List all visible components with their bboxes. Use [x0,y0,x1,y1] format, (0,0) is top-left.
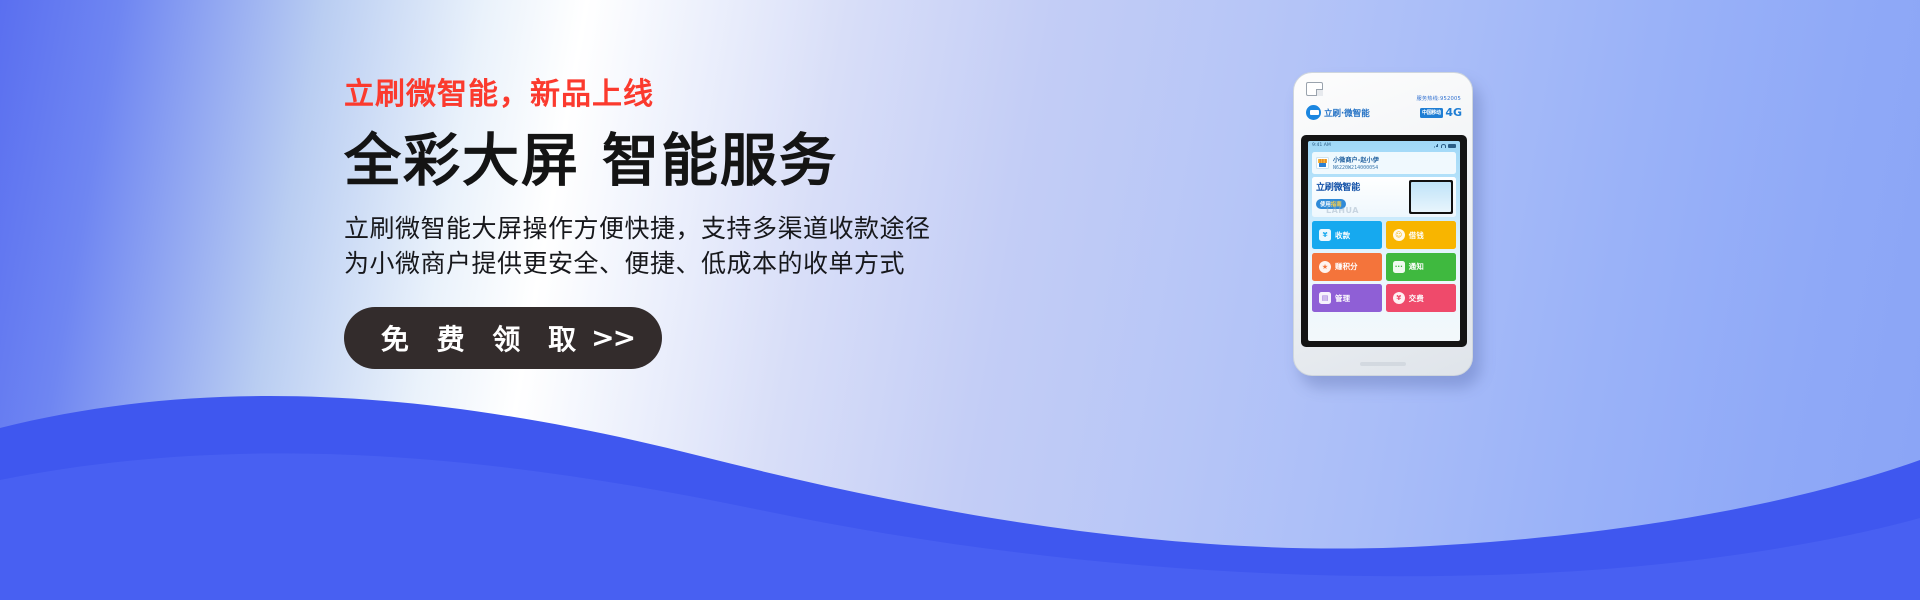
promo-banner: 立刷微智能，新品上线 全彩大屏智能服务 立刷微智能大屏操作方便快捷，支持多渠道收… [0,0,1920,600]
merchant-serial-number: N6220W214000054 [1333,165,1379,171]
status-icons [1434,144,1456,148]
pay-fee-icon: ¥ [1393,292,1405,304]
printer-paper-icon [1306,82,1323,96]
promo-thumbnail [1409,180,1453,214]
app-tile[interactable]: ¥ 交费 [1386,284,1456,312]
app-tile-grid: ¥ 收款 ☺ 借钱 ★ 赚积分 ··· 通知 [1312,221,1456,312]
free-claim-button[interactable]: 免 费 领 取 >> [344,307,662,369]
app-tile-label: 赚积分 [1335,261,1358,272]
status-time: 9:41 AM [1312,143,1331,148]
chevron-right-icon: >> [591,321,634,354]
app-tile[interactable]: ··· 通知 [1386,253,1456,281]
notification-icon: ··· [1393,261,1405,273]
manage-icon: ▤ [1319,292,1331,304]
app-tile-label: 通知 [1409,261,1424,272]
headline-part-left: 全彩大屏 [344,128,580,194]
device-top-panel: 服务热线:952005 立刷·微智能 中国移动 4G [1294,73,1472,135]
signal-icon [1434,144,1439,148]
subtitle-line-2: 为小微商户提供更安全、便捷、低成本的收单方式 [344,246,1024,282]
hotline-text: 服务热线:952005 [1416,95,1461,102]
device-brand-row: 立刷·微智能 中国移动 4G [1306,105,1462,120]
brand-name: 立刷·微智能 [1324,107,1370,119]
eyebrow-text: 立刷微智能，新品上线 [344,78,1024,111]
merchant-card[interactable]: 小微商户-赵小伊 N6220W214000054 [1312,152,1456,174]
app-tile[interactable]: ¥ 收款 [1312,221,1382,249]
merchant-info: 小微商户-赵小伊 N6220W214000054 [1333,155,1379,171]
brand-lockup: 立刷·微智能 [1306,105,1370,120]
screen-status-bar: 9:41 AM [1308,141,1460,150]
battery-icon [1448,144,1456,148]
subtitle-block: 立刷微智能大屏操作方便快捷，支持多渠道收款途径 为小微商户提供更安全、便捷、低成… [344,211,1024,282]
banner-copy: 立刷微智能，新品上线 全彩大屏智能服务 立刷微智能大屏操作方便快捷，支持多渠道收… [344,78,1024,369]
collect-money-icon: ¥ [1319,229,1331,241]
subtitle-line-1: 立刷微智能大屏操作方便快捷，支持多渠道收款途径 [344,211,1024,247]
app-tile-label: 交费 [1409,293,1424,304]
page-title: 全彩大屏智能服务 [344,129,1024,195]
merchant-name: 小微商户-赵小伊 [1333,155,1379,164]
app-tile-label: 管理 [1335,293,1350,304]
device-body: 服务热线:952005 立刷·微智能 中国移动 4G 9:41 AM [1293,72,1473,376]
promo-watermark: LAHUA [1326,206,1359,215]
device-screen: 9:41 AM 小微商户-赵小伊 N6220W214000054 [1308,141,1460,341]
device-screen-bezel: 9:41 AM 小微商户-赵小伊 N6220W214000054 [1301,135,1467,347]
4g-label: 4G [1445,106,1462,119]
app-tile-label: 借钱 [1409,230,1424,241]
shop-icon [1316,157,1329,169]
network-indicator: 中国移动 4G [1420,106,1463,119]
headline-part-right: 智能服务 [602,128,838,194]
promo-thumbnail-image [1411,182,1451,212]
carrier-chip-icon: 中国移动 [1420,108,1444,118]
app-tile-label: 收款 [1335,230,1350,241]
wifi-icon [1441,144,1446,148]
app-tile[interactable]: ★ 赚积分 [1312,253,1382,281]
promo-card[interactable]: 立刷微智能 使用指南 LAHUA [1312,177,1456,217]
earn-points-icon: ★ [1319,261,1331,273]
app-tile[interactable]: ▤ 管理 [1312,284,1382,312]
app-tile[interactable]: ☺ 借钱 [1386,221,1456,249]
lakala-logo-icon [1306,105,1321,120]
pos-device: 服务热线:952005 立刷·微智能 中国移动 4G 9:41 AM [1293,72,1477,382]
device-bottom-panel [1294,345,1472,375]
cta-label: 免 费 领 取 [372,318,585,358]
speaker-grille [1360,362,1406,366]
borrow-money-icon: ☺ [1393,229,1405,241]
